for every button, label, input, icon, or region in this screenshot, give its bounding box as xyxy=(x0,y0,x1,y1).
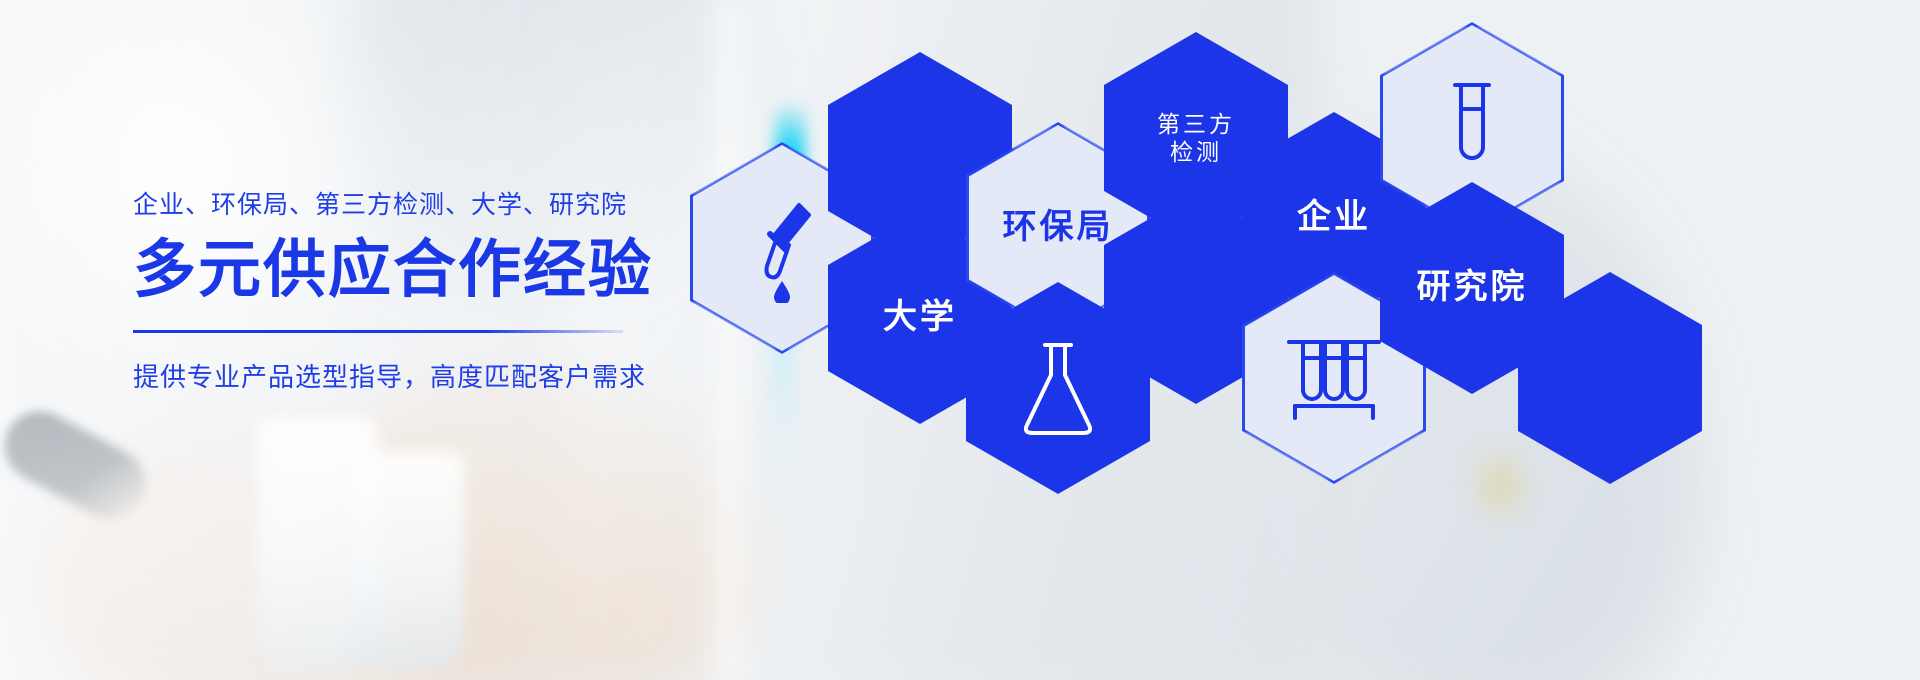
hex-third-party-label: 第三方 检测 xyxy=(1157,110,1235,166)
hex-third-party-line2: 检测 xyxy=(1170,139,1222,165)
headline-block: 企业、环保局、第三方检测、大学、研究院 多元供应合作经验 提供专业产品选型指导，… xyxy=(133,190,753,394)
hex-epb-label: 环保局 xyxy=(1003,207,1114,248)
page-title: 多元供应合作经验 xyxy=(133,236,753,304)
promo-banner: 企业、环保局、第三方检测、大学、研究院 多元供应合作经验 提供专业产品选型指导，… xyxy=(0,0,1920,680)
hexagon-cluster: 大学 环保局 第三方 检测 企业 xyxy=(680,0,1920,680)
hex-third-party-line1: 第三方 xyxy=(1157,111,1235,137)
eyebrow-text: 企业、环保局、第三方检测、大学、研究院 xyxy=(133,190,753,220)
test-tube-rack-icon xyxy=(1279,328,1389,428)
subtitle-text: 提供专业产品选型指导，高度匹配客户需求 xyxy=(133,357,753,394)
dropper-icon xyxy=(743,193,821,303)
hex-university-label: 大学 xyxy=(883,297,957,338)
divider-rule xyxy=(133,330,623,333)
flask-icon xyxy=(1015,335,1101,441)
hex-enterprise-label: 企业 xyxy=(1297,197,1371,238)
test-tube-icon xyxy=(1437,75,1507,181)
hex-institute-label: 研究院 xyxy=(1417,267,1528,308)
